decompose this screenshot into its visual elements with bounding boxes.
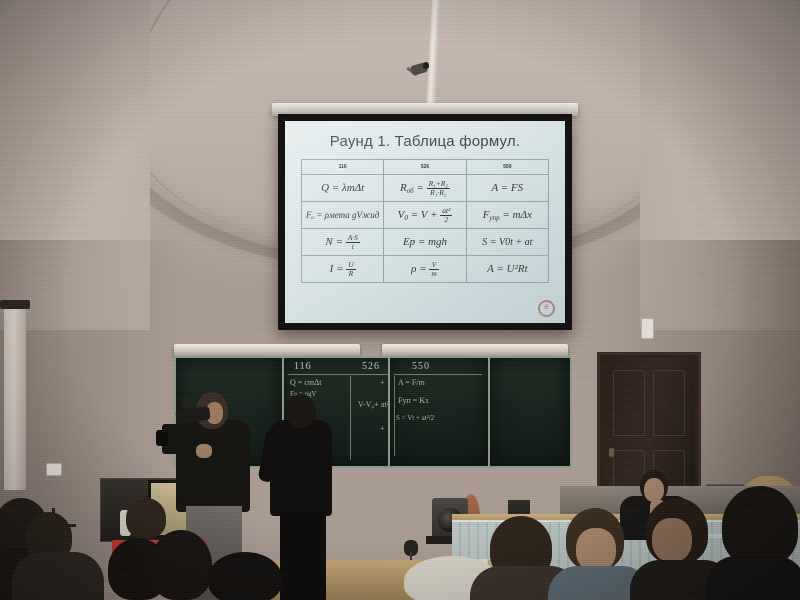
fraction-denominator: t [346, 243, 360, 251]
wall-outlet-right [641, 318, 654, 339]
fraction-denominator: m [429, 270, 438, 278]
student-head [286, 394, 316, 428]
board-divider-h2 [394, 374, 482, 375]
door-panel-top-left [613, 370, 645, 436]
table-row: Q = λmΔt Rоб = R₁+R₂ R₁·R₂ A = FS [302, 175, 549, 202]
formula-cell-r2c1: Fₐ = ρмета gVжид [302, 202, 384, 229]
formula-cell-r2c3: Fупр = mΔx [466, 202, 548, 229]
formula-lhs: N = [325, 236, 343, 248]
formula-cell-r3c3: S = V0t + at [466, 229, 548, 256]
slide-title: Раунд 1. Таблица формул. [297, 133, 553, 150]
formula-subscript: упр [490, 214, 500, 222]
formula-cell-r4c1: I = U R [302, 256, 384, 283]
audience-body-10 [706, 556, 800, 600]
formula-cell-r2c2: V0 = V + at² 2 [384, 202, 466, 229]
board-header-116: 116 [294, 361, 312, 372]
formula-subscript: 0 [404, 214, 408, 222]
formula-lhs: F [483, 209, 490, 221]
table-header-row: 116 526 550 [302, 160, 549, 175]
operator-hand [196, 444, 212, 458]
table-row: N = A·S t Ep = mgh S = V0t + at [302, 229, 549, 256]
presentation-logo-icon: e [538, 300, 555, 317]
fraction-denominator: R [346, 270, 355, 278]
blackboard-panel-3: 550 A = F/m Fуп = Kx S = Vt + at²/2 [388, 356, 490, 468]
board-formula-c2-1: + [380, 378, 385, 387]
board-formula-c3-3: S = Vt + at²/2 [396, 414, 434, 422]
slide-content: Раунд 1. Таблица формул. 116 526 550 Q =… [285, 121, 565, 323]
formula-lhs: I = [330, 263, 344, 275]
fraction-denominator: R₁·R₂ [427, 189, 450, 197]
formula-lhs: Q = [321, 182, 339, 194]
audience-body-2 [12, 552, 104, 600]
pillar-cap [0, 300, 30, 309]
projection-screen: Раунд 1. Таблица формул. 116 526 550 Q =… [285, 121, 565, 323]
board-divider-v2 [394, 376, 395, 456]
column-header-116: 116 [302, 160, 384, 175]
audience-head-6 [126, 498, 166, 538]
formula-table: 116 526 550 Q = λmΔt Rоб = R₁+R₂ R₁·R₂ [301, 159, 549, 283]
door-panel-top-right [653, 370, 685, 436]
ceiling-camera-lens [423, 62, 429, 69]
formula-cell-r3c1: N = A·S t [302, 229, 384, 256]
board-formula-c2-3: + [380, 424, 385, 433]
judge-face [644, 478, 664, 502]
wall-outlet-left [46, 463, 62, 476]
video-camera-lens [156, 430, 168, 446]
blackboard-panel-4 [488, 356, 572, 468]
formula-cell-r3c2: Ep = mgh [384, 229, 466, 256]
formula-rhs: λmΔt [342, 182, 364, 194]
board-formula-c1-1: Q = cmΔt [290, 378, 321, 387]
fraction-denominator: 2 [440, 216, 452, 224]
formula-cell-r4c3: A = U²Rt [466, 256, 548, 283]
formula-cell-r4c2: ρ = V m [384, 256, 466, 283]
formula-lhs: R [400, 182, 407, 194]
formula-cell-r1c3: A = FS [466, 175, 548, 202]
formula-lhs: ρ = [411, 263, 426, 275]
formula-eq: = [416, 182, 423, 194]
audience-face-9 [652, 518, 692, 562]
column-header-526: 526 [384, 160, 466, 175]
formula-cell-r1c1: Q = λmΔt [302, 175, 384, 202]
fraction: R₁+R₂ R₁·R₂ [427, 180, 450, 197]
board-header-526: 526 [362, 361, 380, 372]
board-formula-c3-1: A = F/m [398, 378, 425, 387]
board-formula-c3-2: Fуп = Kx [398, 396, 429, 405]
fraction: A·S t [346, 234, 360, 251]
student-legs [280, 512, 326, 600]
board-header-550: 550 [412, 361, 430, 372]
lecture-hall-photo: Раунд 1. Таблица формул. 116 526 550 Q =… [0, 0, 800, 600]
table-row: I = U R ρ = V m A = U²Rt [302, 256, 549, 283]
board-divider-v [350, 376, 351, 460]
table-row: Fₐ = ρмета gVжид V0 = V + at² 2 Fупр = m… [302, 202, 549, 229]
column-header-550: 550 [466, 160, 548, 175]
fraction: U R [346, 261, 355, 278]
audience-head-4 [150, 530, 212, 600]
audience-head-10 [722, 486, 798, 566]
formula-subscript: об [407, 187, 414, 195]
fraction: V m [429, 261, 438, 278]
fraction: at² 2 [440, 207, 452, 224]
formula-eq: = V + [411, 209, 438, 221]
formula-rhs: = mΔx [502, 209, 531, 221]
audience-head-5 [208, 552, 282, 600]
formula-cell-r1c2: Rоб = R₁+R₂ R₁·R₂ [384, 175, 466, 202]
wall-pillar [4, 305, 26, 490]
door-knob[interactable] [609, 448, 614, 457]
video-camera-mic [182, 396, 190, 408]
